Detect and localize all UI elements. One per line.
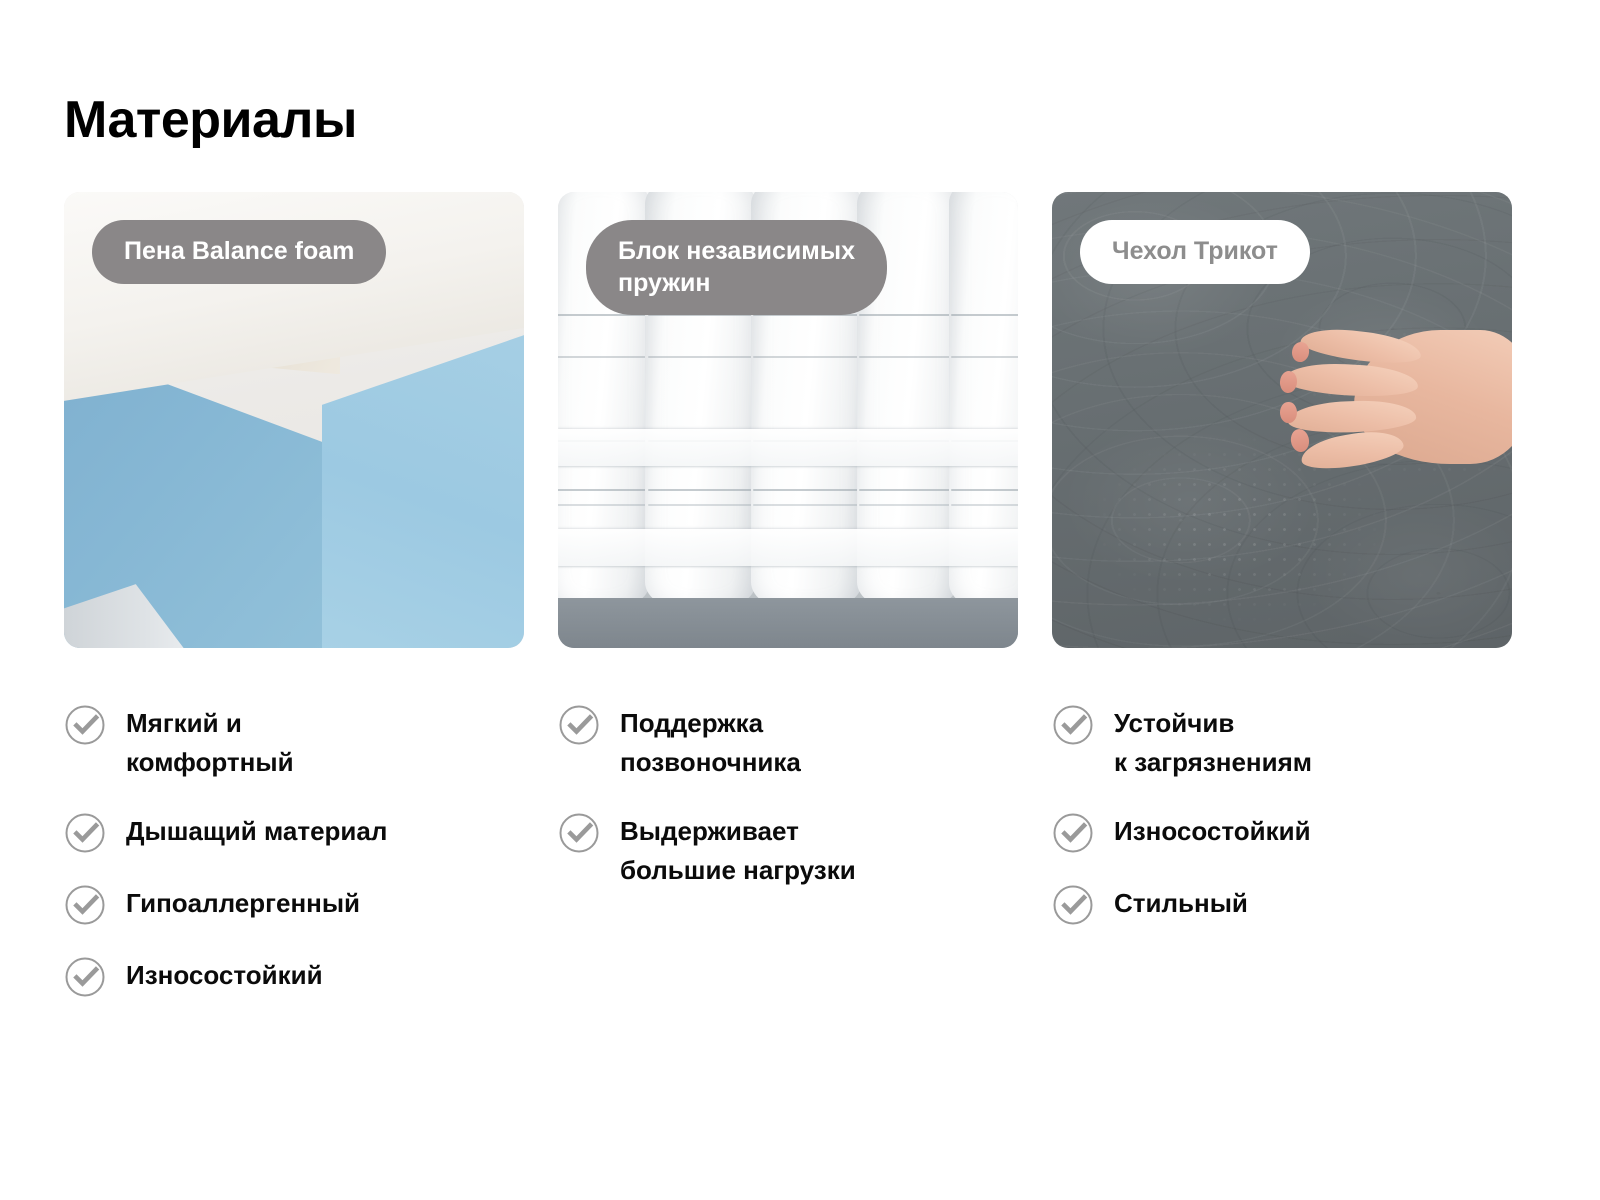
feature-item: Поддержка позвоночника bbox=[558, 700, 1018, 782]
hand-illustration bbox=[1227, 324, 1512, 470]
feature-list-cover: Устойчив к загрязнениям Износостойкий Ст… bbox=[1052, 700, 1512, 926]
materials-columns: Пена Balance foam Мягкий и комфортный Д bbox=[64, 192, 1536, 998]
check-circle-icon bbox=[64, 812, 106, 854]
feature-item: Износостойкий bbox=[1052, 808, 1512, 854]
check-circle-icon bbox=[1052, 704, 1094, 746]
feature-item: Выдерживает большие нагрузки bbox=[558, 808, 1018, 890]
check-circle-icon bbox=[558, 704, 600, 746]
material-column-springs: Блок независимых пружин Поддержка позвон… bbox=[558, 192, 1018, 998]
feature-list-springs: Поддержка позвоночника Выдерживает больш… bbox=[558, 700, 1018, 890]
material-column-foam: Пена Balance foam Мягкий и комфортный Д bbox=[64, 192, 524, 998]
material-card-foam[interactable]: Пена Balance foam bbox=[64, 192, 524, 648]
feature-label: Дышащий материал bbox=[126, 808, 387, 851]
check-circle-icon bbox=[64, 704, 106, 746]
check-circle-icon bbox=[558, 812, 600, 854]
feature-label: Гипоаллергенный bbox=[126, 880, 360, 923]
material-badge-cover: Чехол Трикот bbox=[1080, 220, 1310, 284]
feature-label: Устойчив к загрязнениям bbox=[1114, 700, 1312, 782]
material-card-springs[interactable]: Блок независимых пружин bbox=[558, 192, 1018, 648]
feature-label: Износостойкий bbox=[1114, 808, 1311, 851]
material-badge-springs: Блок независимых пружин bbox=[586, 220, 887, 315]
check-circle-icon bbox=[1052, 884, 1094, 926]
feature-item: Стильный bbox=[1052, 880, 1512, 926]
check-circle-icon bbox=[1052, 812, 1094, 854]
feature-label: Мягкий и комфортный bbox=[126, 700, 294, 782]
materials-page: Материалы Пена Balance foam bbox=[0, 0, 1600, 1200]
feature-item: Износостойкий bbox=[64, 952, 524, 998]
feature-item: Дышащий материал bbox=[64, 808, 524, 854]
feature-item: Мягкий и комфортный bbox=[64, 700, 524, 782]
feature-list-foam: Мягкий и комфортный Дышащий материал Гип… bbox=[64, 700, 524, 998]
feature-item: Гипоаллергенный bbox=[64, 880, 524, 926]
feature-item: Устойчив к загрязнениям bbox=[1052, 700, 1512, 782]
material-column-cover: Чехол Трикот Устойчив к загрязнениям Изн bbox=[1052, 192, 1512, 998]
material-card-cover[interactable]: Чехол Трикот bbox=[1052, 192, 1512, 648]
material-badge-foam: Пена Balance foam bbox=[92, 220, 386, 284]
check-circle-icon bbox=[64, 884, 106, 926]
check-circle-icon bbox=[64, 956, 106, 998]
feature-label: Поддержка позвоночника bbox=[620, 700, 801, 782]
feature-label: Стильный bbox=[1114, 880, 1248, 923]
page-title: Материалы bbox=[64, 92, 357, 148]
feature-label: Износостойкий bbox=[126, 952, 323, 995]
feature-label: Выдерживает большие нагрузки bbox=[620, 808, 856, 890]
